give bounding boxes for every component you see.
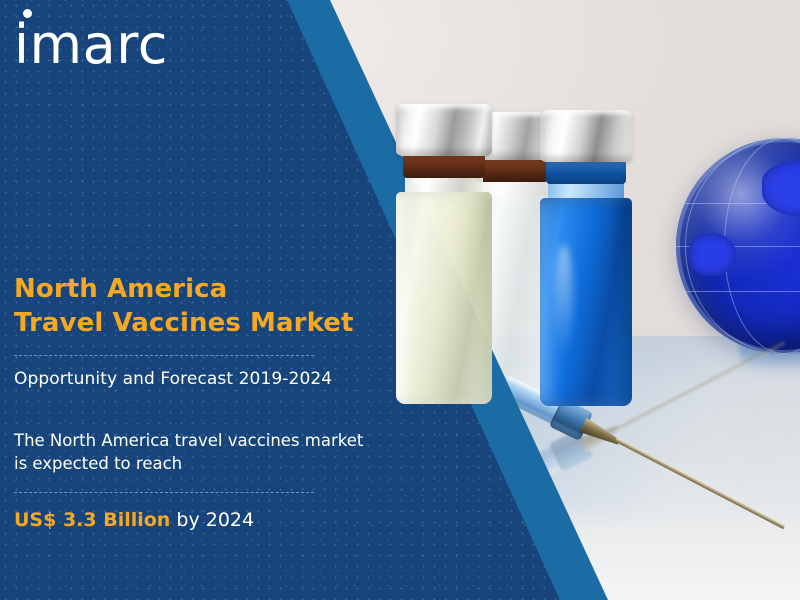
imarc-logo[interactable]: imarc — [14, 18, 168, 72]
title-line-2: Travel Vaccines Market — [14, 306, 414, 340]
logo-dot-icon — [23, 9, 32, 18]
report-lede: The North America travel vaccines market… — [14, 429, 414, 476]
cover-content: North America Travel Vaccines Market Opp… — [14, 272, 414, 531]
value-divider — [14, 492, 314, 493]
report-subtitle: Opportunity and Forecast 2019-2024 — [14, 369, 414, 389]
lede-line-1: The North America travel vaccines market — [14, 429, 414, 452]
page-title: North America Travel Vaccines Market — [14, 272, 414, 341]
title-divider — [14, 355, 314, 356]
lede-line-2: is expected to reach — [14, 452, 414, 475]
vial-cap — [540, 110, 632, 162]
vial-body — [540, 198, 632, 406]
title-line-1: North America — [14, 272, 414, 306]
market-value-suffix: by 2024 — [170, 509, 254, 531]
vial-cap — [396, 104, 492, 156]
logo-wordmark: imarc — [14, 18, 168, 72]
blue-vaccine-vial-icon — [540, 110, 632, 406]
market-value-statement: US$ 3.3 Billion by 2024 — [14, 509, 414, 531]
report-cover-poster: imarc North America Travel Vaccines Mark… — [0, 0, 800, 600]
market-value-amount: US$ 3.3 Billion — [14, 509, 170, 531]
